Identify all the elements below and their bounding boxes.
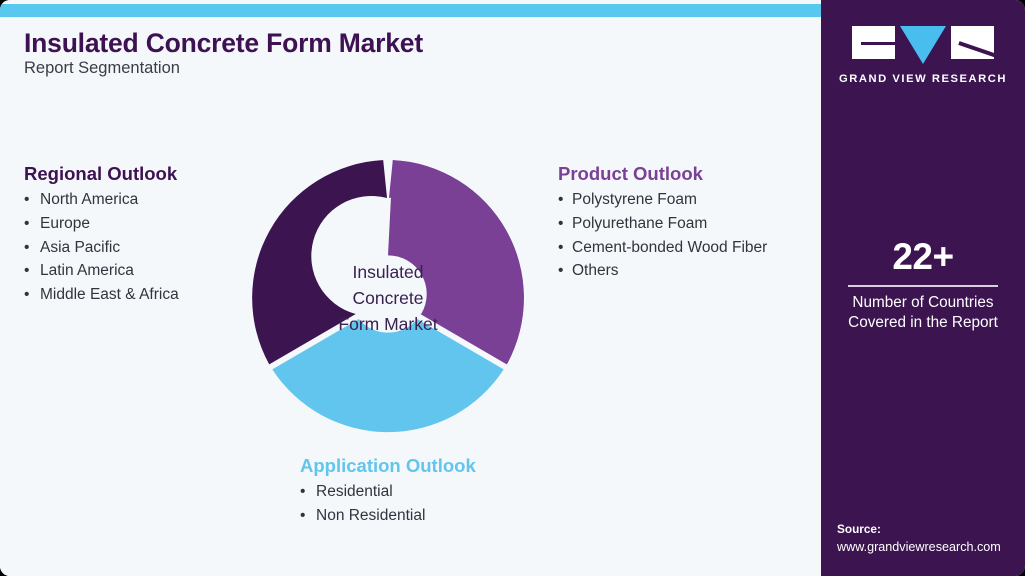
product-outlook-block: Product Outlook Polystyrene Foam Polyure… [558, 163, 767, 283]
list-item: Europe [24, 212, 179, 236]
source-label: Source: [837, 521, 1025, 538]
list-item: Residential [300, 480, 476, 504]
grand-view-research-logo: GRAND VIEW RESEARCH [821, 26, 1025, 85]
stat-caption-line-1: Number of Countries [821, 293, 1025, 314]
list-item: Others [558, 259, 767, 283]
logo-g-icon [852, 26, 895, 59]
product-outlook-title: Product Outlook [558, 163, 767, 185]
regional-outlook-title: Regional Outlook [24, 163, 179, 185]
infographic-canvas: Insulated Concrete Form Market Report Se… [0, 0, 1025, 576]
logo-wordmark: GRAND VIEW RESEARCH [839, 73, 1007, 85]
list-item: Non Residential [300, 504, 476, 528]
source-footer: Source: www.grandviewresearch.com [837, 521, 1025, 556]
donut-chart: Insulated Concrete Form Market [248, 158, 528, 438]
page-subtitle: Report Segmentation [24, 59, 180, 78]
logo-marks [852, 26, 994, 64]
stat-number: 22+ [821, 236, 1025, 278]
stat-caption-line-2: Covered in the Report [821, 313, 1025, 334]
list-item: Cement-bonded Wood Fiber [558, 236, 767, 260]
regional-outlook-list: North America Europe Asia Pacific Latin … [24, 188, 179, 307]
list-item: Middle East & Africa [24, 283, 179, 307]
country-count-stat: 22+ Number of Countries Covered in the R… [821, 236, 1025, 334]
page-title: Insulated Concrete Form Market [24, 28, 423, 59]
list-item: North America [24, 188, 179, 212]
application-outlook-list: Residential Non Residential [300, 480, 476, 528]
source-url[interactable]: www.grandviewresearch.com [837, 538, 1025, 556]
donut-chart-svg [248, 158, 528, 438]
logo-r-icon [951, 26, 994, 59]
regional-outlook-block: Regional Outlook North America Europe As… [24, 163, 179, 307]
list-item: Asia Pacific [24, 236, 179, 260]
brand-sidebar: GRAND VIEW RESEARCH 22+ Number of Countr… [821, 0, 1025, 576]
list-item: Polystyrene Foam [558, 188, 767, 212]
list-item: Polyurethane Foam [558, 212, 767, 236]
list-item: Latin America [24, 259, 179, 283]
logo-v-triangle-icon [900, 26, 946, 64]
application-outlook-block: Application Outlook Residential Non Resi… [300, 455, 476, 528]
product-outlook-list: Polystyrene Foam Polyurethane Foam Cemen… [558, 188, 767, 283]
application-outlook-title: Application Outlook [300, 455, 476, 477]
stat-divider [848, 285, 998, 287]
left-content-panel: Insulated Concrete Form Market Report Se… [0, 0, 821, 576]
top-accent-bar [0, 4, 821, 17]
